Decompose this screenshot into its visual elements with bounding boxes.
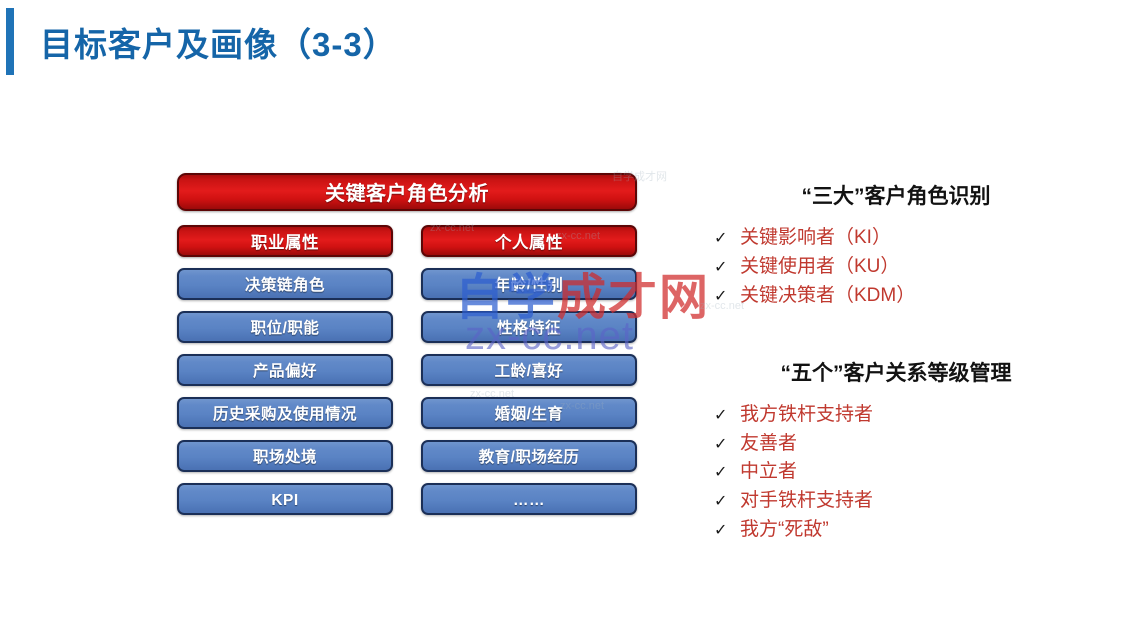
diagram-title-banner: 关键客户角色分析	[177, 173, 637, 211]
list-item[interactable]: ✓ 我方“死敌”	[714, 516, 1100, 545]
slide-header: 目标客户及画像（3-3）	[0, 0, 1148, 86]
list-item[interactable]: ✓ 对手铁杆支持者	[714, 487, 1100, 516]
list-item[interactable]: ✓ 中立者	[714, 458, 1100, 487]
list-item-label: 对手铁杆支持者	[740, 487, 873, 516]
chip-occupational-2[interactable]: 职位/职能	[177, 311, 393, 343]
check-icon: ✓	[714, 404, 740, 428]
section-heading-five-levels: “五个”客户关系等级管理	[692, 357, 1100, 387]
check-icon: ✓	[714, 519, 740, 543]
list-item[interactable]: ✓ 关键影响者（KI）	[714, 224, 1100, 253]
chip-personal-4[interactable]: 婚姻/生育	[421, 397, 637, 429]
role-analysis-diagram: 关键客户角色分析 职业属性 决策链角色 职位/职能 产品偏好 历史采购及使用情况…	[177, 173, 637, 515]
chip-occupational-5[interactable]: 职场处境	[177, 440, 393, 472]
column-occupational-attributes: 职业属性 决策链角色 职位/职能 产品偏好 历史采购及使用情况 职场处境 KPI	[177, 225, 393, 515]
chip-personal-6[interactable]: ……	[421, 483, 637, 515]
column-header-personal: 个人属性	[421, 225, 637, 257]
list-five-levels: ✓ 我方铁杆支持者 ✓ 友善者 ✓ 中立者 ✓ 对手铁杆支持者 ✓ 我方“死敌”	[714, 401, 1100, 545]
list-item-label: 中立者	[740, 458, 797, 487]
check-icon: ✓	[714, 433, 740, 457]
column-personal-attributes: 个人属性 年龄/性别 性格特征 工龄/喜好 婚姻/生育 教育/职场经历 ……	[421, 225, 637, 515]
list-item-label: 关键使用者（KU）	[740, 253, 899, 282]
page-title: 目标客户及画像（3-3）	[40, 18, 397, 66]
title-accent-bar	[6, 8, 14, 75]
check-icon: ✓	[714, 490, 740, 514]
list-item-label: 我方铁杆支持者	[740, 401, 873, 430]
list-item-label: 友善者	[740, 430, 797, 459]
list-item[interactable]: ✓ 友善者	[714, 430, 1100, 459]
chip-personal-5[interactable]: 教育/职场经历	[421, 440, 637, 472]
section-heading-three-roles: “三大”客户角色识别	[692, 180, 1100, 210]
chip-personal-2[interactable]: 性格特征	[421, 311, 637, 343]
list-item-label: 我方“死敌”	[740, 516, 829, 545]
check-icon: ✓	[714, 285, 740, 309]
list-item[interactable]: ✓ 关键使用者（KU）	[714, 253, 1100, 282]
chip-personal-1[interactable]: 年龄/性别	[421, 268, 637, 300]
check-icon: ✓	[714, 256, 740, 280]
chip-occupational-6[interactable]: KPI	[177, 483, 393, 515]
list-three-roles: ✓ 关键影响者（KI） ✓ 关键使用者（KU） ✓ 关键决策者（KDM）	[714, 224, 1100, 311]
chip-occupational-4[interactable]: 历史采购及使用情况	[177, 397, 393, 429]
attribute-columns: 职业属性 决策链角色 职位/职能 产品偏好 历史采购及使用情况 职场处境 KPI…	[177, 225, 637, 515]
chip-personal-3[interactable]: 工龄/喜好	[421, 354, 637, 386]
list-item-label: 关键决策者（KDM）	[740, 282, 915, 311]
chip-occupational-3[interactable]: 产品偏好	[177, 354, 393, 386]
info-panel: “三大”客户角色识别 ✓ 关键影响者（KI） ✓ 关键使用者（KU） ✓ 关键决…	[700, 180, 1100, 545]
section-three-roles: “三大”客户角色识别 ✓ 关键影响者（KI） ✓ 关键使用者（KU） ✓ 关键决…	[700, 180, 1100, 311]
chip-occupational-1[interactable]: 决策链角色	[177, 268, 393, 300]
list-item[interactable]: ✓ 关键决策者（KDM）	[714, 282, 1100, 311]
section-five-levels: “五个”客户关系等级管理 ✓ 我方铁杆支持者 ✓ 友善者 ✓ 中立者 ✓ 对手铁…	[700, 357, 1100, 545]
check-icon: ✓	[714, 461, 740, 485]
column-header-occupational: 职业属性	[177, 225, 393, 257]
list-item[interactable]: ✓ 我方铁杆支持者	[714, 401, 1100, 430]
check-icon: ✓	[714, 227, 740, 251]
list-item-label: 关键影响者（KI）	[740, 224, 891, 253]
